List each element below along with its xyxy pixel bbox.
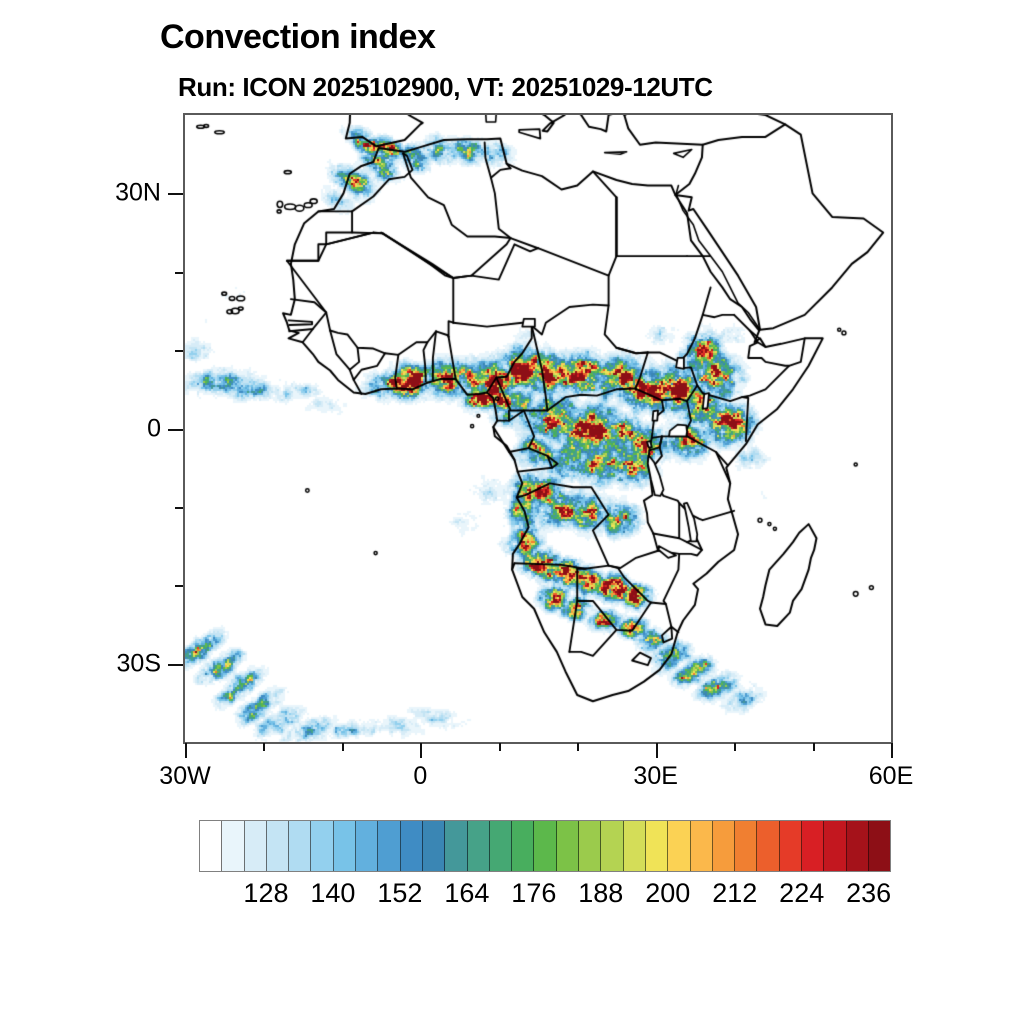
x-minor-tick — [342, 743, 344, 751]
colorbar-swatch — [646, 821, 668, 871]
colorbar-swatch — [579, 821, 601, 871]
colorbar-tick-label: 164 — [444, 878, 489, 909]
y-major-tick — [168, 193, 183, 195]
colorbar-swatch — [334, 821, 356, 871]
x-axis-label: 30W — [159, 762, 210, 791]
y-minor-tick — [175, 585, 183, 587]
colorbar-tick-labels: 128140152164176188200212224236 — [0, 878, 1024, 918]
colorbar-tick-label: 212 — [712, 878, 757, 909]
x-minor-tick — [813, 743, 815, 751]
colorbar-swatch — [534, 821, 556, 871]
colorbar-swatch — [200, 821, 222, 871]
run-valid-time-subtitle: Run: ICON 2025102900, VT: 20251029-12UTC — [178, 72, 713, 103]
colorbar-swatch — [445, 821, 467, 871]
colorbar-swatch — [802, 821, 824, 871]
colorbar-swatch — [267, 821, 289, 871]
colorbar-tick-label: 128 — [243, 878, 288, 909]
colorbar-tick-label: 140 — [310, 878, 355, 909]
colorbar-swatch — [869, 821, 890, 871]
colorbar-swatch — [757, 821, 779, 871]
x-minor-tick — [734, 743, 736, 751]
colorbar-tick-label: 200 — [645, 878, 690, 909]
x-axis-label: 60E — [869, 762, 913, 791]
colorbar-swatch — [601, 821, 623, 871]
y-axis-label: 30N — [0, 179, 161, 208]
x-major-tick — [420, 743, 422, 758]
x-minor-tick — [263, 743, 265, 751]
x-major-tick — [891, 743, 893, 758]
colorbar — [199, 820, 891, 872]
x-axis-label: 30E — [633, 762, 677, 791]
colorbar-swatch — [824, 821, 846, 871]
colorbar-tick-label: 152 — [377, 878, 422, 909]
colorbar-swatch — [780, 821, 802, 871]
page-title: Convection index — [160, 18, 435, 57]
colorbar-swatch — [512, 821, 534, 871]
colorbar-swatch — [401, 821, 423, 871]
y-axis-label: 30S — [0, 649, 161, 678]
colorbar-swatch — [490, 821, 512, 871]
x-axis-label: 0 — [413, 762, 427, 791]
colorbar-swatch — [735, 821, 757, 871]
x-major-tick — [656, 743, 658, 758]
convection-index-map — [185, 115, 891, 742]
colorbar-swatch — [468, 821, 490, 871]
map-plot-area — [183, 113, 893, 744]
colorbar-swatch — [624, 821, 646, 871]
convection-index-figure: Convection index Run: ICON 2025102900, V… — [0, 0, 1024, 1024]
colorbar-swatch — [245, 821, 267, 871]
colorbar-tick-label: 176 — [511, 878, 556, 909]
colorbar-swatch — [311, 821, 333, 871]
y-minor-tick — [175, 272, 183, 274]
colorbar-tick-label: 236 — [846, 878, 891, 909]
y-major-tick — [168, 429, 183, 431]
y-minor-tick — [175, 507, 183, 509]
colorbar-swatch — [289, 821, 311, 871]
colorbar-swatch — [713, 821, 735, 871]
colorbar-swatch — [378, 821, 400, 871]
colorbar-swatch — [847, 821, 869, 871]
colorbar-swatch — [691, 821, 713, 871]
x-minor-tick — [499, 743, 501, 751]
y-axis-label: 0 — [0, 414, 161, 443]
colorbar-tick-label: 188 — [578, 878, 623, 909]
x-major-tick — [185, 743, 187, 758]
colorbar-swatch — [423, 821, 445, 871]
colorbar-tick-label: 224 — [779, 878, 824, 909]
colorbar-swatch — [668, 821, 690, 871]
y-minor-tick — [175, 350, 183, 352]
x-minor-tick — [577, 743, 579, 751]
colorbar-swatch — [222, 821, 244, 871]
colorbar-swatch — [557, 821, 579, 871]
y-major-tick — [168, 664, 183, 666]
colorbar-swatch — [356, 821, 378, 871]
